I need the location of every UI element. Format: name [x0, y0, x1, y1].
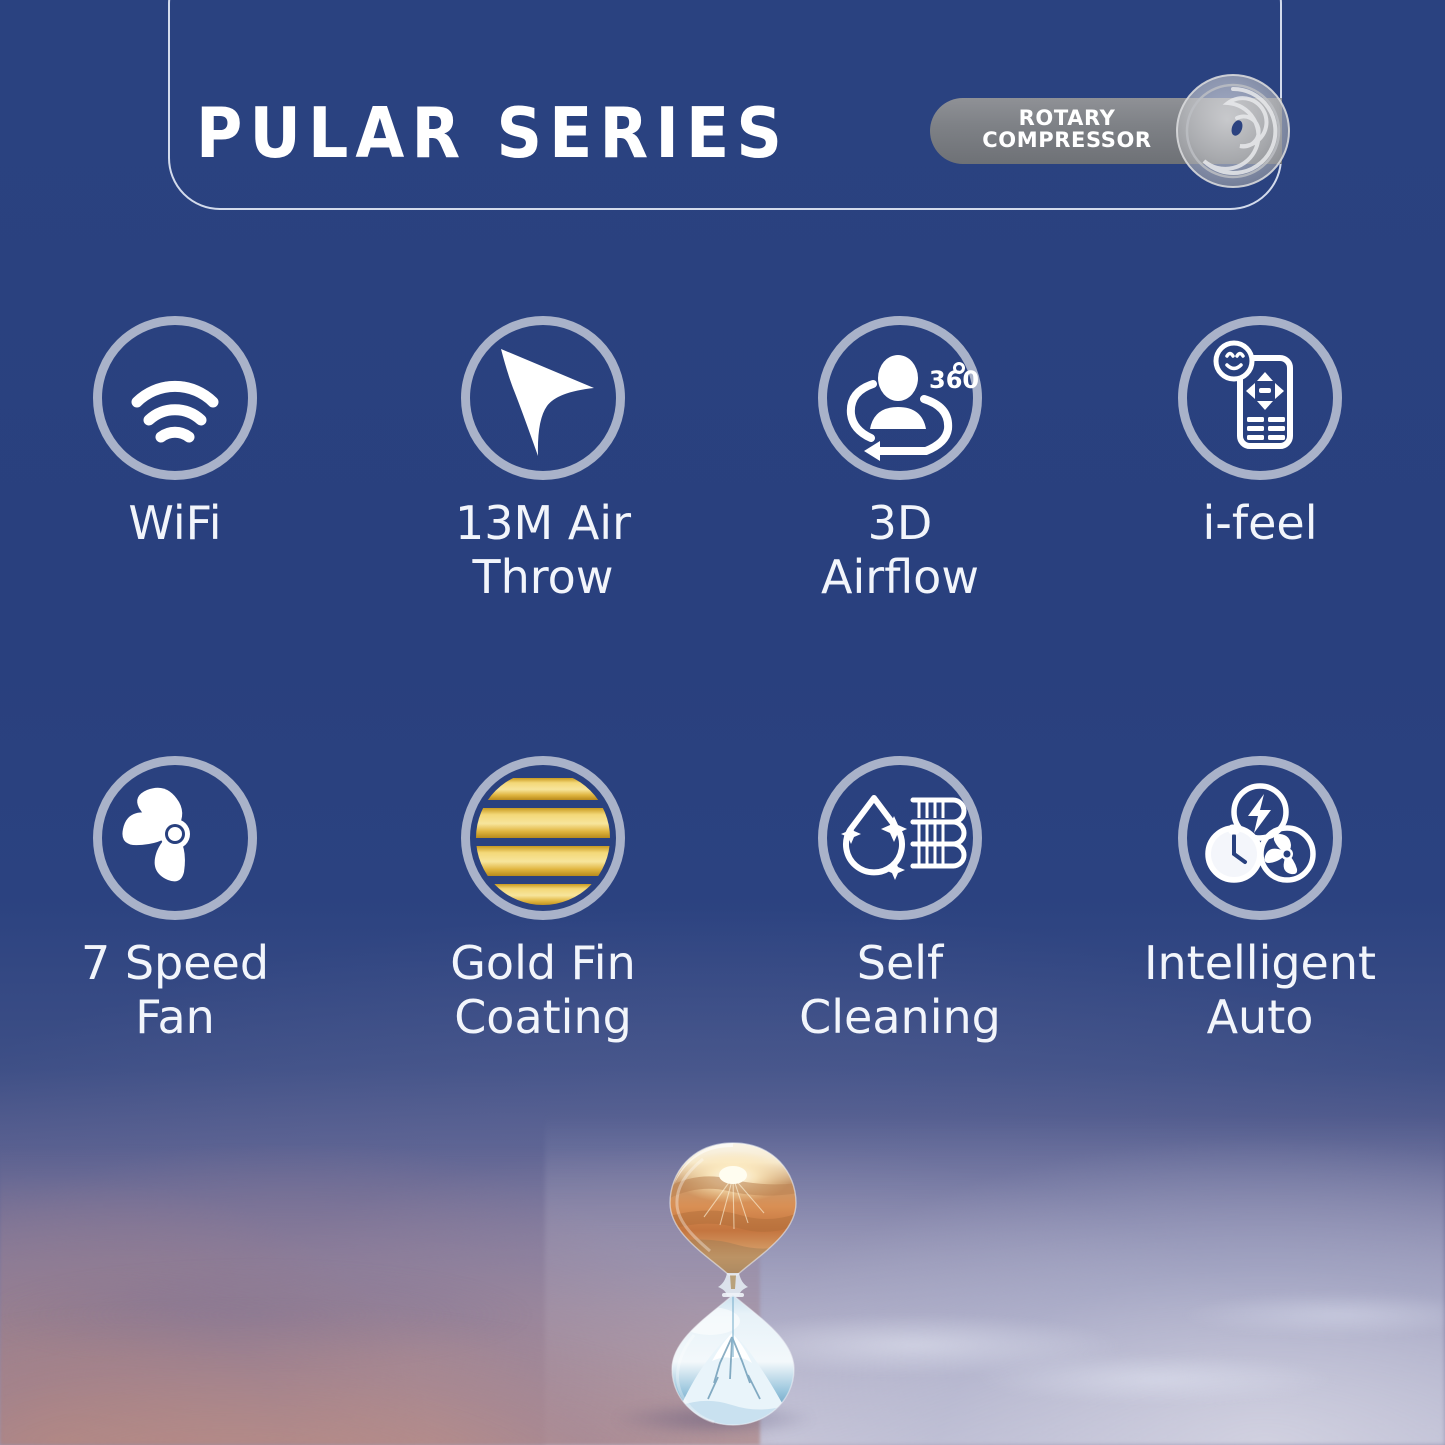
icon-ring — [818, 756, 982, 920]
feature-label: Intelligent Auto — [1110, 936, 1410, 1044]
feature-intelligent-auto[interactable]: Intelligent Auto — [1110, 756, 1410, 920]
feature-fan-speed[interactable]: 7 Speed Fan — [25, 756, 325, 920]
features-grid: WiFi 13M Air Throw 360 — [0, 0, 1445, 1100]
icon-ring — [461, 316, 625, 480]
droplet-coil-icon — [818, 756, 982, 920]
icon-ring — [93, 756, 257, 920]
icon-ring — [1178, 756, 1342, 920]
feature-label: WiFi — [25, 496, 325, 550]
wifi-icon — [93, 316, 257, 480]
feature-air-throw[interactable]: 13M Air Throw — [393, 316, 693, 480]
feature-label: Self Cleaning — [750, 936, 1050, 1044]
feature-gold-fin[interactable]: Gold Fin Coating — [393, 756, 693, 920]
icon-ring — [93, 316, 257, 480]
feature-label: 3D Airflow — [750, 496, 1050, 604]
feature-3d-airflow[interactable]: 360 3D Airflow — [750, 316, 1050, 480]
feature-label: i-feel — [1110, 496, 1410, 550]
feature-self-cleaning[interactable]: Self Cleaning — [750, 756, 1050, 920]
feature-label: 7 Speed Fan — [25, 936, 325, 1044]
air-throw-arrow-icon — [461, 316, 625, 480]
feature-wifi[interactable]: WiFi — [25, 316, 325, 480]
gold-fin-stripes-icon — [461, 756, 625, 920]
icon-ring — [461, 756, 625, 920]
remote-smiley-icon — [1178, 316, 1342, 480]
icon-ring — [1178, 316, 1342, 480]
360-airflow-icon: 360 — [818, 316, 982, 480]
auto-modes-icon — [1178, 756, 1342, 920]
feature-label: Gold Fin Coating — [393, 936, 693, 1044]
icon-ring: 360 — [818, 316, 982, 480]
feature-ifeel[interactable]: i-feel — [1110, 316, 1410, 480]
feature-label: 13M Air Throw — [393, 496, 693, 604]
fan-blades-icon — [93, 756, 257, 920]
hourglass-desert-snow-image — [648, 1125, 818, 1445]
